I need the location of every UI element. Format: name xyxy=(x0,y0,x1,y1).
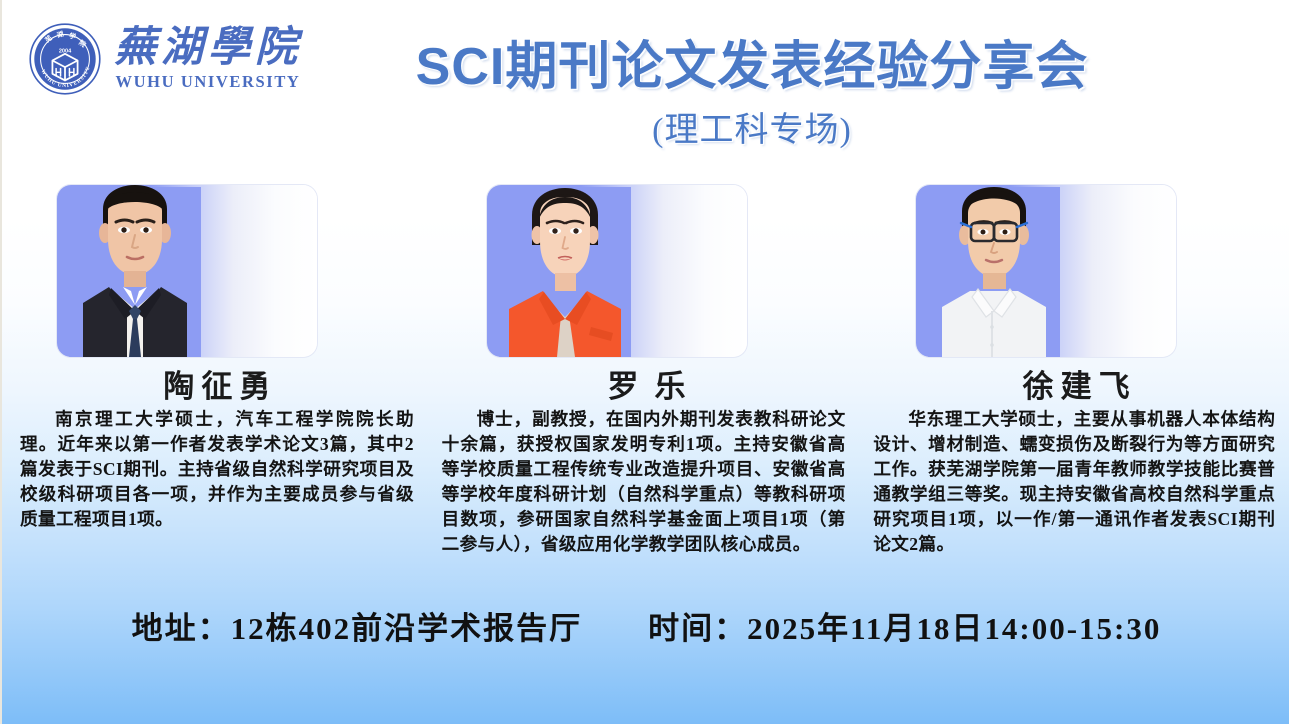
speaker-card: 陶征勇 南京理工大学硕士，汽车工程学院院长助理。近年来以第一作者发表学术论文3篇… xyxy=(2,165,432,565)
event-address: 地址：12栋402前沿学术报告厅 xyxy=(132,603,583,648)
university-logo: 芜 湖 学 院 2004 xyxy=(28,22,302,96)
portrait-male-glasses-white-shirt-icon xyxy=(928,159,1060,357)
university-name-en: WUHU UNIVERSITY xyxy=(116,72,301,92)
speaker-name: 陶征勇 xyxy=(2,361,432,406)
speaker-name: 徐建飞 xyxy=(861,361,1289,406)
speaker-photo-card xyxy=(487,185,747,357)
speaker-bio: 南京理工大学硕士，汽车工程学院院长助理。近年来以第一作者发表学术论文3篇，其中2… xyxy=(20,407,414,532)
portrait-male-dark-suit-icon xyxy=(69,159,201,357)
speaker-portrait xyxy=(928,159,1060,357)
speaker-bio: 华东理工大学硕士，主要从事机器人本体结构设计、增材制造、蠕变损伤及断裂行为等方面… xyxy=(873,407,1275,557)
poster-subtitle: (理工科专场) xyxy=(332,102,1172,151)
speaker-card: 徐建飞 华东理工大学硕士，主要从事机器人本体结构设计、增材制造、蠕变损伤及断裂行… xyxy=(861,165,1289,565)
speaker-portrait xyxy=(499,159,631,357)
portrait-female-orange-blazer-icon xyxy=(499,159,631,357)
speaker-photo-card xyxy=(57,185,317,357)
speakers-row: 陶征勇 南京理工大学硕士，汽车工程学院院长助理。近年来以第一作者发表学术论文3篇… xyxy=(2,165,1289,565)
university-seal-icon: 芜 湖 学 院 2004 xyxy=(28,22,102,96)
speaker-bio: 博士，副教授，在国内外期刊发表教科研论文十余篇，获授权国家发明专利1项。主持安徽… xyxy=(442,407,846,557)
university-name-cn: 蕪湖學院 xyxy=(114,26,302,70)
speaker-portrait xyxy=(69,159,201,357)
speaker-name: 罗乐 xyxy=(432,361,862,406)
speaker-card: 罗乐 博士，副教授，在国内外期刊发表教科研论文十余篇，获授权国家发明专利1项。主… xyxy=(432,165,862,565)
speaker-photo-card xyxy=(916,185,1176,357)
event-time: 时间：2025年11月18日14:00-15:30 xyxy=(648,603,1161,648)
poster-title: SCI期刊论文发表经验分享会 xyxy=(332,38,1172,96)
university-wordmark: 蕪湖學院 WUHU UNIVERSITY xyxy=(114,26,302,92)
poster-header: 芜 湖 学 院 2004 xyxy=(2,0,1289,160)
title-block: SCI期刊论文发表经验分享会 (理工科专场) xyxy=(332,38,1172,151)
seminar-poster: 芜 湖 学 院 2004 xyxy=(0,0,1289,724)
poster-footer: 地址：12栋402前沿学术报告厅 时间：2025年11月18日14:00-15:… xyxy=(2,603,1289,648)
